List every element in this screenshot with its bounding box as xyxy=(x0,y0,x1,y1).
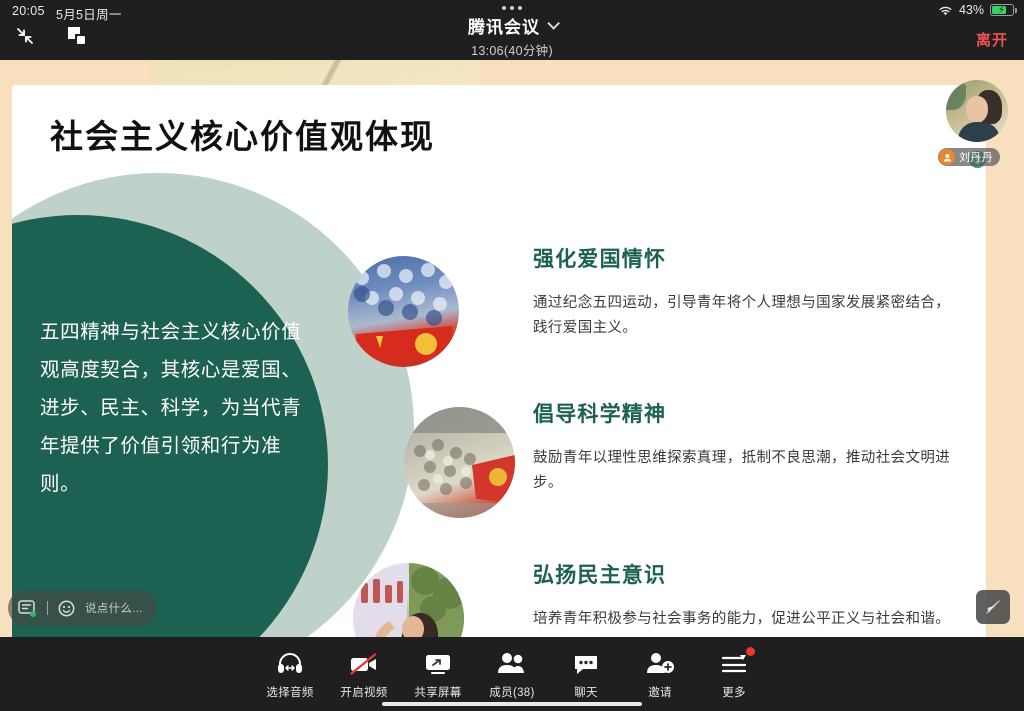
chat-placeholder: 说点什么... xyxy=(85,600,143,616)
toolbar-label: 邀请 xyxy=(648,684,672,700)
toolbar-label: 更多 xyxy=(722,684,746,700)
section-1: 强化爱国情怀 通过纪念五四运动，引导青年将个人理想与国家发展紧密结合，践行爱国主… xyxy=(533,243,953,342)
photo-student-writing-wall xyxy=(353,563,464,637)
emoji-smiley-icon[interactable] xyxy=(58,600,77,617)
section-body: 培养青年积极参与社会事务的能力，促进公平正义与社会和谐。 xyxy=(533,607,953,632)
toolbar-label: 选择音频 xyxy=(266,684,313,700)
share-screen-icon xyxy=(424,649,452,677)
section-heading: 弘扬民主意识 xyxy=(533,559,953,589)
toolbar-item-chat[interactable]: 聊天 xyxy=(549,649,623,700)
top-bar: 20:05 5月5日周一 43% ⚡ 腾讯会议 13: xyxy=(0,0,1024,60)
audio-headset-icon xyxy=(276,649,304,677)
section-body: 鼓励青年以理性思维探索真理，抵制不良思潮，推动社会文明进步。 xyxy=(533,446,953,497)
participants-icon xyxy=(497,649,527,677)
toolbar-label: 成员(38) xyxy=(489,684,534,700)
highlight-paragraph: 五四精神与社会主义核心价值观高度契合，其核心是爱国、进步、民主、科学，为当代青年… xyxy=(40,313,308,503)
meeting-title-button[interactable]: 腾讯会议 xyxy=(468,13,556,38)
host-person-icon xyxy=(939,149,955,165)
section-3: 弘扬民主意识 培养青年积极参与社会事务的能力，促进公平正义与社会和谐。 xyxy=(533,559,953,632)
video-off-icon xyxy=(349,649,379,677)
toolbar-item-audio[interactable]: 选择音频 xyxy=(253,649,327,700)
chat-input-pill[interactable]: 说点什么... xyxy=(8,590,157,626)
meeting-screen: 20:05 5月5日周一 43% ⚡ 腾讯会议 13: xyxy=(0,0,1024,711)
leave-button[interactable]: 离开 xyxy=(976,29,1008,50)
toolbar-label: 开启视频 xyxy=(340,684,387,700)
home-indicator xyxy=(382,702,642,706)
toolbar-item-more[interactable]: 更多 xyxy=(697,649,771,700)
avatar xyxy=(946,80,1008,142)
divider xyxy=(47,601,48,615)
expand-annotate-icon[interactable] xyxy=(976,590,1010,624)
meeting-info: 腾讯会议 13:06(40分钟) xyxy=(0,6,1024,59)
section-body: 通过纪念五四运动，引导青年将个人理想与国家发展紧密结合，践行爱国主义。 xyxy=(533,291,953,342)
toolbar-item-share[interactable]: 共享屏幕 xyxy=(401,649,475,700)
meeting-timer: 13:06(40分钟) xyxy=(471,40,553,59)
page-title: 社会主义核心价值观体现 xyxy=(50,110,435,158)
slide-canvas: 社会主义核心价值观体现 五四精神与社会主义核心价值观高度契合，其核心是爱国、进步… xyxy=(12,85,986,637)
participant-name-pill: 刘丹丹 xyxy=(938,148,1000,166)
section-heading: 倡导科学精神 xyxy=(533,398,953,428)
more-menu-icon xyxy=(720,649,748,677)
section-2: 倡导科学精神 鼓励青年以理性思维探索真理，抵制不良思潮，推动社会文明进步。 xyxy=(533,398,953,497)
chat-bubble-icon xyxy=(572,649,600,677)
more-dots-icon xyxy=(502,6,522,10)
photo-students-with-flag xyxy=(348,256,459,367)
shared-slide-stage[interactable]: 社会主义核心价值观体现 五四精神与社会主义核心价值观高度契合，其核心是爱国、进步… xyxy=(0,60,1024,637)
section-heading: 强化爱国情怀 xyxy=(533,243,953,273)
photo-crowd-parade xyxy=(404,407,515,518)
toolbar-item-invite[interactable]: 邀请 xyxy=(623,649,697,700)
invite-person-icon xyxy=(645,649,675,677)
meeting-title: 腾讯会议 xyxy=(468,13,540,38)
message-bubble-icon[interactable] xyxy=(18,600,37,617)
meeting-toolbar: 选择音频 开启视频 共享屏幕 成员(38) 聊天 xyxy=(0,637,1024,711)
participant-name: 刘丹丹 xyxy=(959,149,993,165)
toolbar-item-participants[interactable]: 成员(38) xyxy=(475,649,549,700)
participant-thumbnail[interactable]: 刘丹丹 xyxy=(946,80,1008,166)
toolbar-item-video[interactable]: 开启视频 xyxy=(327,649,401,700)
chevron-down-icon xyxy=(547,17,560,30)
toolbar-label: 聊天 xyxy=(574,684,598,700)
toolbar-label: 共享屏幕 xyxy=(414,684,461,700)
